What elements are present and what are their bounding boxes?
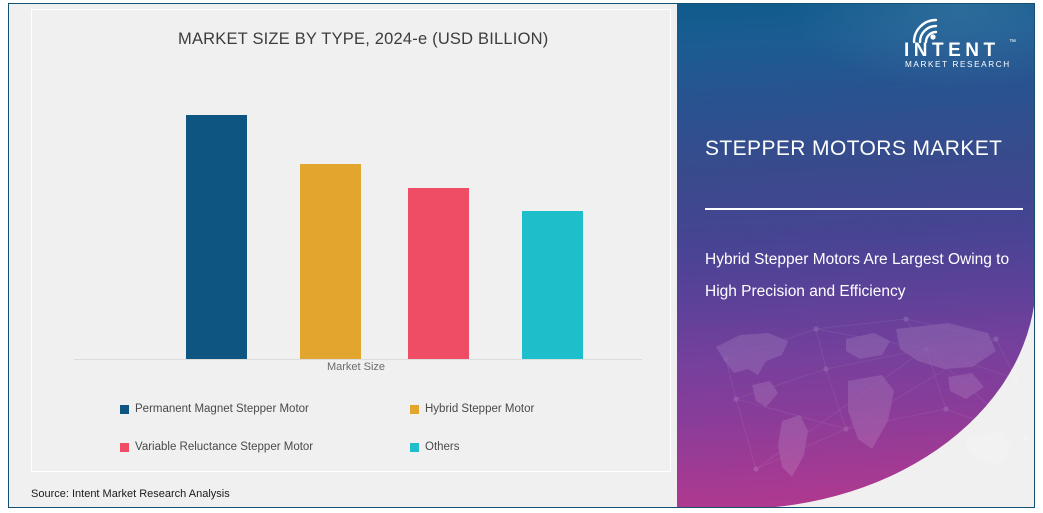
world-map-decoration bbox=[696, 289, 1035, 508]
panel-gradient-background: INTENT ™ MARKET RESEARCH STEPPER MOTORS … bbox=[677, 4, 1035, 508]
brand-logo: INTENT ™ MARKET RESEARCH bbox=[888, 12, 1018, 74]
source-note: Source: Intent Market Research Analysis bbox=[31, 488, 230, 500]
legend-label: Others bbox=[425, 441, 460, 453]
x-axis-label: Market Size bbox=[66, 361, 646, 373]
title-pane: INTENT ™ MARKET RESEARCH STEPPER MOTORS … bbox=[677, 4, 1035, 508]
legend-swatch-icon bbox=[120, 405, 129, 414]
legend-item-others[interactable]: Others bbox=[410, 441, 640, 453]
legend-row: Variable Reluctance Stepper Motor Others bbox=[120, 441, 640, 479]
bar-others[interactable] bbox=[522, 211, 583, 359]
legend-row: Permanent Magnet Stepper Motor Hybrid St… bbox=[120, 403, 640, 441]
infographic-root: MARKET SIZE BY TYPE, 2024-e (USD BILLION… bbox=[0, 0, 1043, 513]
logo-tagline: MARKET RESEARCH bbox=[905, 60, 1011, 69]
panel-divider bbox=[705, 208, 1023, 210]
chart-pane: MARKET SIZE BY TYPE, 2024-e (USD BILLION… bbox=[9, 4, 679, 507]
legend-item-hybrid-stepper-motor[interactable]: Hybrid Stepper Motor bbox=[410, 403, 640, 415]
bar-hybrid-stepper-motor[interactable] bbox=[300, 164, 361, 359]
card-frame: MARKET SIZE BY TYPE, 2024-e (USD BILLION… bbox=[8, 3, 1035, 508]
logo-wordmark: INTENT bbox=[904, 41, 1000, 60]
legend-item-variable-reluctance-stepper-motor[interactable]: Variable Reluctance Stepper Motor bbox=[120, 441, 410, 453]
legend-label: Permanent Magnet Stepper Motor bbox=[135, 403, 309, 415]
x-axis-line bbox=[74, 359, 642, 360]
legend-swatch-icon bbox=[120, 443, 129, 452]
bar-chart-plot: Market Size bbox=[66, 105, 646, 360]
chart-legend: Permanent Magnet Stepper Motor Hybrid St… bbox=[120, 403, 640, 479]
legend-swatch-icon bbox=[410, 405, 419, 414]
chart-card: MARKET SIZE BY TYPE, 2024-e (USD BILLION… bbox=[31, 9, 671, 472]
legend-swatch-icon bbox=[410, 443, 419, 452]
logo-trademark: ™ bbox=[1009, 39, 1016, 46]
legend-label: Hybrid Stepper Motor bbox=[425, 403, 534, 415]
panel-title: STEPPER MOTORS MARKET bbox=[705, 137, 1002, 161]
panel-subtitle: Hybrid Stepper Motors Are Largest Owing … bbox=[705, 244, 1015, 308]
bar-group bbox=[66, 105, 646, 359]
chart-title: MARKET SIZE BY TYPE, 2024-e (USD BILLION… bbox=[178, 30, 548, 49]
bar-variable-reluctance-stepper-motor[interactable] bbox=[408, 188, 469, 359]
legend-label: Variable Reluctance Stepper Motor bbox=[135, 441, 313, 453]
bar-permanent-magnet-stepper-motor[interactable] bbox=[186, 115, 247, 359]
legend-item-permanent-magnet-stepper-motor[interactable]: Permanent Magnet Stepper Motor bbox=[120, 403, 410, 415]
